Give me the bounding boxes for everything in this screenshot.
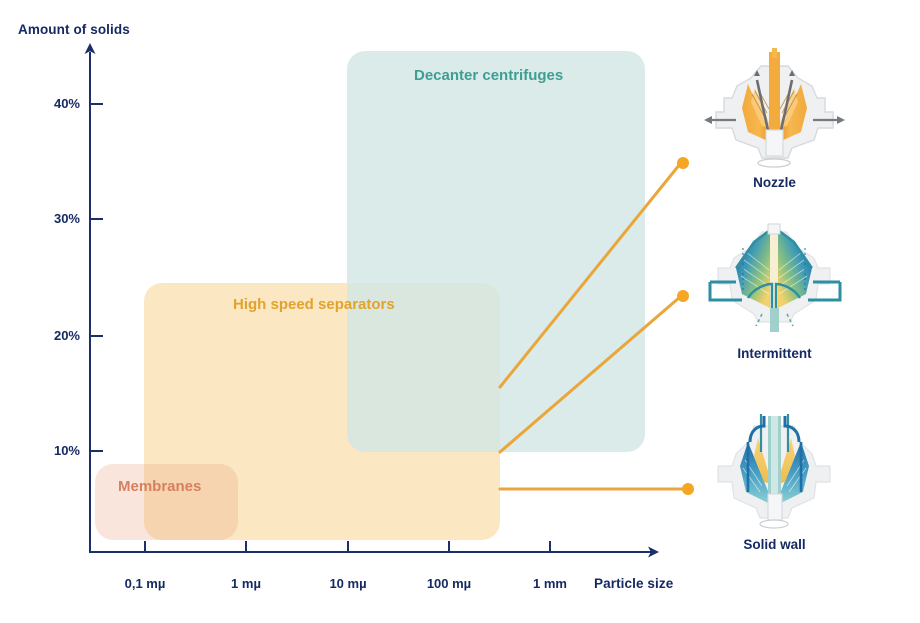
y-tick-label-10: 10% <box>24 443 80 458</box>
y-tick-20 <box>91 335 103 337</box>
nozzle-separator-diagram <box>702 46 847 171</box>
thumbnail-nozzle: Nozzle <box>702 46 847 190</box>
x-tick-1 <box>245 541 247 553</box>
x-axis-arrowhead <box>644 544 660 560</box>
region-decanter-centrifuges <box>347 51 645 452</box>
y-axis-arrowhead <box>82 42 98 58</box>
leader-dot-solid-wall <box>682 483 694 495</box>
x-tick-label-100: 100 mµ <box>409 576 489 591</box>
y-tick-40 <box>91 103 103 105</box>
intermittent-separator-diagram <box>702 222 847 342</box>
thumbnail-caption-nozzle: Nozzle <box>702 175 847 190</box>
y-tick-label-20: 20% <box>24 328 80 343</box>
x-tick-label-1mm: 1 mm <box>510 576 590 591</box>
chart-canvas: Amount of solids Decanter centrifuges Hi… <box>0 0 920 623</box>
thumbnail-intermittent: Intermittent <box>702 222 847 361</box>
thumbnail-caption-solid-wall: Solid wall <box>702 537 847 552</box>
x-tick-label-0-1: 0,1 mµ <box>105 576 185 591</box>
thumbnail-solid-wall: Solid wall <box>702 408 847 552</box>
x-tick-label-1: 1 mµ <box>206 576 286 591</box>
x-tick-10 <box>347 541 349 553</box>
region-label-decanter-centrifuges: Decanter centrifuges <box>414 67 563 84</box>
x-tick-label-10: 10 mµ <box>308 576 388 591</box>
leader-dot-intermittent <box>677 290 689 302</box>
y-tick-10 <box>91 450 103 452</box>
region-label-membranes: Membranes <box>118 478 201 495</box>
region-label-high-speed-separators: High speed separators <box>233 296 395 313</box>
y-tick-30 <box>91 218 103 220</box>
y-axis-line <box>89 52 91 552</box>
x-axis-line <box>89 551 652 553</box>
x-axis-title: Particle size <box>594 576 673 591</box>
y-tick-label-30: 30% <box>24 211 80 226</box>
x-tick-0-1 <box>144 541 146 553</box>
y-axis-title: Amount of solids <box>18 22 130 37</box>
region-membranes <box>95 464 238 540</box>
y-tick-label-40: 40% <box>24 96 80 111</box>
solid-wall-separator-diagram <box>702 408 847 533</box>
leader-dot-nozzle <box>677 157 689 169</box>
thumbnail-caption-intermittent: Intermittent <box>702 346 847 361</box>
x-tick-1mm <box>549 541 551 553</box>
x-tick-100 <box>448 541 450 553</box>
